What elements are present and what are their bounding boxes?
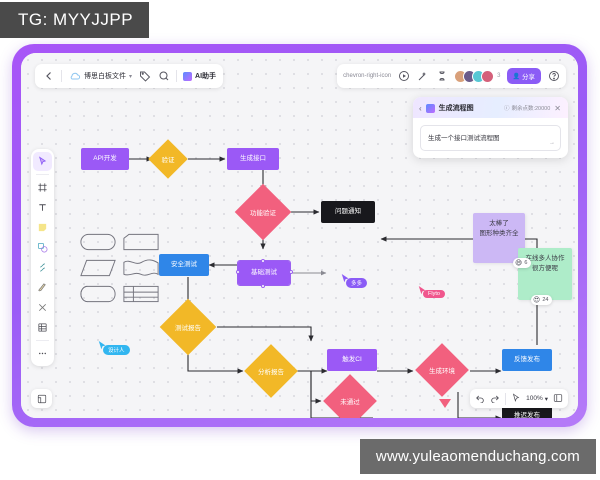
ai-sparkle-icon [426,104,435,113]
avatar-overflow-count: 3 [497,73,500,79]
flow-node-failed[interactable]: 未通过 [321,379,379,418]
flow-node-label: 触发CI [342,356,362,363]
zoom-control[interactable]: 100% ▾ [526,395,548,403]
cursor-label: Flyto [423,290,445,298]
share-button[interactable]: 👤 分享 [507,68,541,84]
cursor-pink: Flyto [418,283,427,301]
cursor-purple: 多多 [341,271,350,289]
emoji-icon: 😄 [515,259,522,267]
topbar-left: 博思白板文件 ▾ AI助手 [35,64,223,88]
search-icon[interactable] [157,70,170,83]
table-shape[interactable] [122,283,160,305]
more-tools[interactable] [33,344,52,363]
file-menu[interactable]: 博思白板文件 ▾ [68,70,132,83]
back-icon[interactable]: ‹ [419,104,422,113]
flow-node-generate-api[interactable]: 生成接口 [227,148,279,170]
left-toolbar [31,149,54,366]
panel-button[interactable] [553,390,563,408]
send-icon[interactable]: → [549,140,555,146]
cloud-icon [68,70,81,83]
flow-node-label: 安全测试 [171,261,197,268]
magic-wand-icon[interactable] [416,70,429,83]
frame-tool[interactable] [33,178,52,197]
flow-node-label: 分析报告 [258,366,284,376]
flow-node-label: 推迟发布 [514,412,540,418]
topbar-right: chevron-right-icon 3 � [337,64,566,88]
chevron-right-icon[interactable]: chevron-right-icon [343,73,391,79]
avatar[interactable] [481,70,494,83]
reaction-count: 24 [542,297,548,303]
ai-panel-header: ‹ 生成流程图 ⓘ 剩余点数:20000 ✕ [413,97,568,118]
ai-credits-text: 剩余点数:20000 [511,104,550,112]
flow-node-analysis-report[interactable]: 分析报告 [242,349,300,393]
ai-credits: ⓘ 剩余点数:20000 [504,104,550,112]
resize-handle[interactable] [261,284,265,288]
ai-panel-body: 生成一个接口测试流程图 → [413,118,568,158]
flow-node-label: 反馈发布 [514,356,540,363]
app-screen: 博思白板文件 ▾ AI助手 chevron-right-icon [21,53,578,418]
layers-button[interactable] [31,389,52,408]
flow-node-label: 基础测试 [251,269,277,276]
ai-prompt-value: 生成一个接口测试流程图 [428,135,500,142]
ai-assistant-label: AI助手 [195,71,216,81]
help-circle-icon[interactable] [547,70,560,83]
cursor-label: 设计人 [103,345,130,355]
tag-icon[interactable] [138,70,151,83]
pointer-button[interactable] [511,390,521,408]
device-frame: 博思白板文件 ▾ AI助手 chevron-right-icon [12,44,587,427]
flow-node-generate-env[interactable]: 生成环境 [413,347,471,393]
flow-node-function-verify[interactable]: 功能验证 [233,189,293,235]
layers-icon [37,394,47,404]
file-name: 博思白板文件 [84,71,126,81]
hourglass-icon[interactable] [435,70,448,83]
flow-node-basic-test[interactable]: 基础测试 [238,261,290,285]
card-shape[interactable] [122,231,160,253]
cursor-label: 多多 [346,278,367,288]
resize-handle[interactable] [236,270,240,274]
wave-shape[interactable] [122,257,160,279]
connector-tool[interactable] [33,298,52,317]
cursor-blue: 设计人 [98,338,107,356]
undo-icon [475,393,485,403]
flow-node-test-report[interactable]: 测试报告 [158,304,218,350]
flow-node-label: 生成接口 [240,155,266,162]
rounded-rect-shape[interactable] [79,231,117,253]
divider [176,70,177,82]
text-tool[interactable] [33,198,52,217]
brush-tool[interactable] [33,278,52,297]
resize-handle[interactable] [289,270,293,274]
share-label: 分享 [522,71,535,81]
zoom-level: 100% [526,395,543,402]
divider [505,393,506,405]
undo-button[interactable] [475,390,485,408]
sticky-line: 太棒了 [478,219,520,229]
flow-node-label: 未通过 [340,396,360,406]
shapes-tool[interactable] [33,238,52,257]
table-tool[interactable] [33,318,52,337]
flow-node-label: 问题通知 [335,208,361,215]
select-tool[interactable] [33,152,52,171]
sticky-reaction-collab[interactable]: 😍 24 [531,295,552,305]
flow-node-verify[interactable]: 验证 [148,139,188,179]
site-watermark: www.yuleaomenduchang.com [360,439,596,474]
back-icon[interactable] [42,70,55,83]
sticky-reaction-praise[interactable]: 😄 6 [513,258,531,268]
resize-handle[interactable] [261,259,265,263]
divider [36,174,49,175]
sticky-note-tool[interactable] [33,218,52,237]
ai-flowchart-panel: ‹ 生成流程图 ⓘ 剩余点数:20000 ✕ 生成一个接口测试流程图 → [413,97,568,158]
divider [36,340,49,341]
ai-assistant-button[interactable]: AI助手 [183,71,216,81]
flow-node-security-test[interactable]: 安全测试 [159,254,209,276]
collaborator-avatars[interactable]: 3 [454,70,500,83]
pointer-icon [511,393,521,403]
pen-curve-tool[interactable] [33,258,52,277]
screenshot-root: TG: MYYJJPP 博思白板文件 ▾ [0,0,600,480]
close-icon[interactable]: ✕ [554,104,561,113]
play-circle-icon[interactable] [397,70,410,83]
panel-icon [553,393,563,403]
tg-watermark: TG: MYYJJPP [0,2,149,38]
chevron-down-icon[interactable]: ▾ [129,73,132,80]
cylinder-shape[interactable] [79,283,117,305]
flow-node-trigger-ci[interactable]: 触发CI [327,349,377,371]
flow-node-label: 测试报告 [175,322,201,332]
divider [61,70,62,82]
shape-palette [79,231,160,305]
flow-node-label: 功能验证 [250,207,276,217]
redo-icon [490,393,500,403]
chevron-down-icon[interactable]: ▾ [545,395,548,403]
flow-node-label: 生成环境 [429,365,455,375]
flow-node-issue-notice[interactable]: 问题通知 [321,201,375,223]
flow-node-feedback-release[interactable]: 反馈发布 [502,349,552,371]
person-add-icon: 👤 [513,73,520,80]
flow-node-api[interactable]: API开发 [81,148,129,170]
redo-button[interactable] [490,390,500,408]
bottom-right-controls: 100% ▾ [470,389,568,408]
parallelogram-shape[interactable] [79,257,117,279]
ai-prompt-input[interactable]: 生成一个接口测试流程图 → [420,125,561,151]
ai-sparkle-icon [183,72,192,81]
sticky-line: 图形种类齐全 [478,229,520,239]
emoji-icon: 😍 [533,296,540,304]
flow-node-label: 验证 [162,154,175,164]
cursor-red-marker [438,399,452,418]
flow-node-label: API开发 [93,155,116,162]
info-circle-icon: ⓘ [504,104,510,112]
sticky-note-collab[interactable]: 在线多人协作 很方便呢 [518,248,572,300]
reaction-count: 6 [524,260,527,266]
ai-panel-title: 生成流程图 [439,103,474,113]
